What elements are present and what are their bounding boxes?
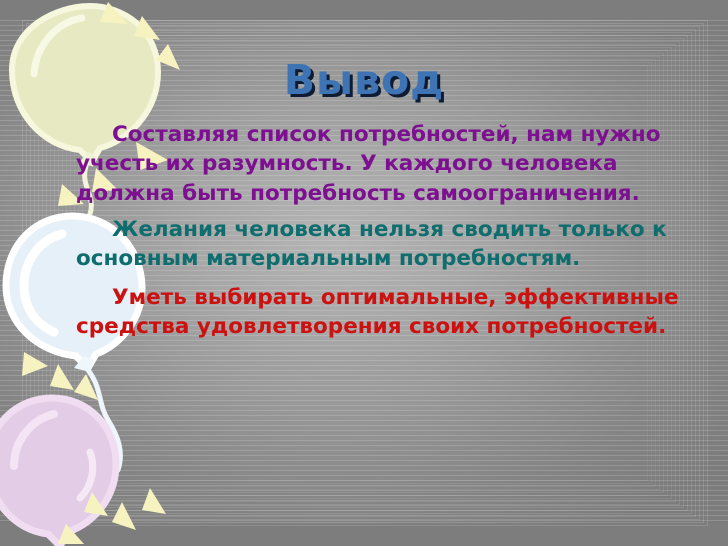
confetti-triangle [134,16,160,40]
paragraph-conclusion-2: Желания человека нельзя сводить только к… [76,215,702,274]
confetti-triangle [112,502,136,530]
balloon-pink-group [0,398,116,546]
presentation-slide: Вывод Составляя список потребностей, нам… [0,0,728,546]
paragraph-conclusion-1: Составляя список потребностей, нам нужно… [76,120,702,208]
slide-body: Составляя список потребностей, нам нужно… [76,120,702,345]
slide-title: Вывод [0,56,728,104]
paragraph-conclusion-3: Уметь выбирать оптимальные, эффективные … [76,283,702,342]
confetti-triangle [22,352,48,376]
confetti-triangle [142,488,166,514]
confetti-triangle [50,364,74,390]
balloon-pink-body [0,398,116,546]
